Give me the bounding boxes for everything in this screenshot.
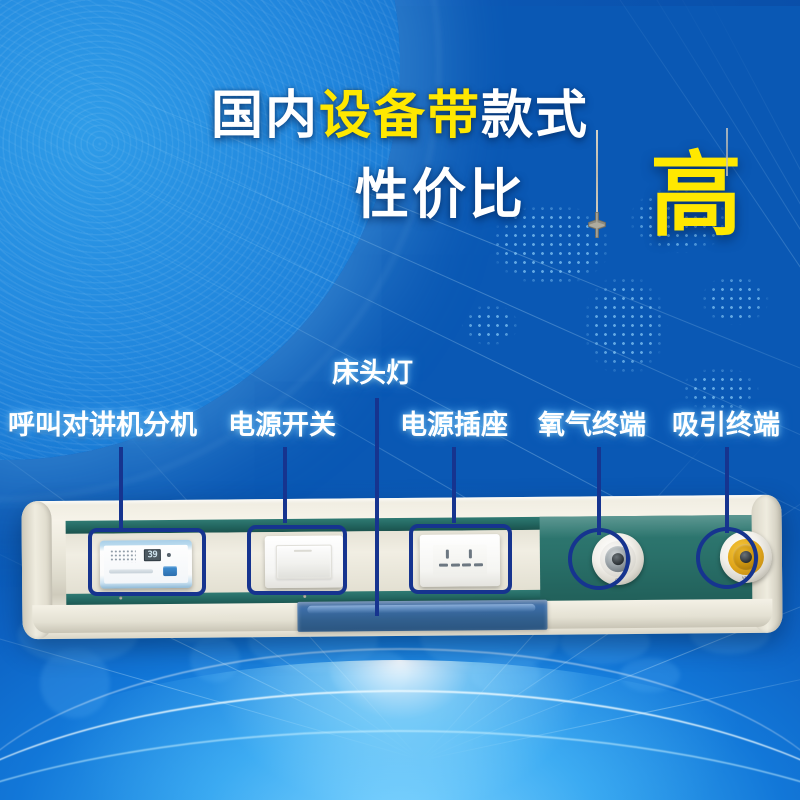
highlight-box-power-socket <box>409 524 512 594</box>
highlight-box-power-switch <box>247 525 347 595</box>
highlight-box-intercom <box>88 528 206 596</box>
highlight-circle-suction <box>696 527 758 589</box>
leader-line-power-switch <box>283 447 287 523</box>
highlight-circle-oxygen <box>568 528 630 590</box>
callout-label-power-switch: 电源开关 <box>228 412 336 439</box>
callout-label-bed-lamp: 床头灯 <box>332 360 413 387</box>
callout-label-power-socket: 电源插座 <box>400 412 508 439</box>
callout-labels: 呼叫对讲机分机 床头灯 电源开关 电源插座 氧气终端 吸引终端 <box>0 0 800 800</box>
callout-label-oxygen-terminal: 氧气终端 <box>538 412 646 439</box>
leader-line-intercom <box>119 447 123 528</box>
callout-label-suction-terminal: 吸引终端 <box>672 412 780 439</box>
leader-line-bed-lamp <box>375 398 379 616</box>
leader-line-suction-terminal <box>725 447 729 533</box>
leader-line-power-socket <box>452 447 456 523</box>
leader-line-oxygen-terminal <box>597 447 601 535</box>
callout-label-intercom: 呼叫对讲机分机 <box>8 412 197 439</box>
poster-canvas: 国内设备带款式 性价比 高 呼叫对讲机分机 床头灯 电源开关 电源插座 氧气终端… <box>0 0 800 800</box>
